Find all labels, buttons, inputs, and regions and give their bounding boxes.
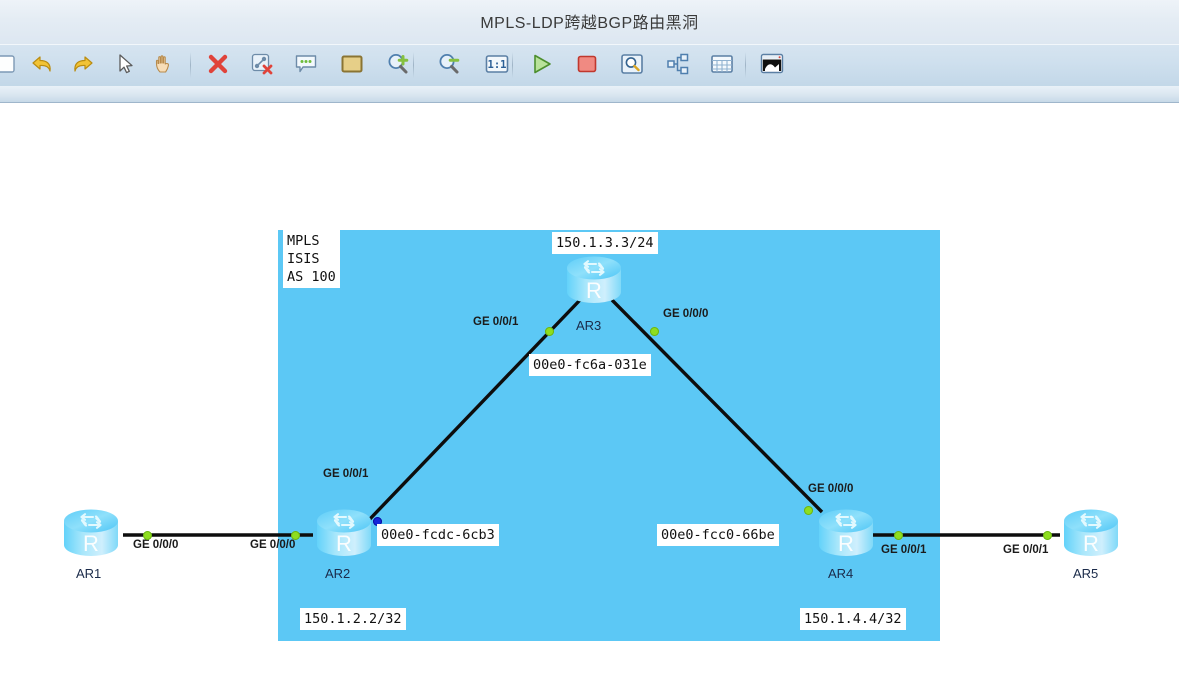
- port-label: GE 0/0/0: [663, 308, 708, 320]
- port-connector-dot[interactable]: [1043, 531, 1052, 540]
- router-ar2[interactable]: R: [313, 505, 375, 561]
- ar4-loopback-label[interactable]: 150.1.4.4/32: [800, 608, 906, 630]
- window-title: MPLS-LDP跨越BGP路由黑洞: [0, 9, 1179, 33]
- zoom-in-icon[interactable]: [386, 52, 412, 78]
- ar2-mac-label[interactable]: 00e0-fcdc-6cb3: [377, 524, 499, 546]
- pan-hand-icon[interactable]: [152, 52, 178, 78]
- toolbar-separator-4: [745, 52, 746, 78]
- svg-text:R: R: [336, 531, 352, 556]
- stop-all-icon[interactable]: [575, 52, 601, 78]
- start-all-icon[interactable]: [530, 52, 556, 78]
- router-ar1[interactable]: R: [60, 505, 122, 561]
- svg-text:1:1: 1:1: [488, 59, 507, 71]
- rectangle-icon[interactable]: [340, 52, 366, 78]
- svg-text:R: R: [1083, 531, 1099, 556]
- port-connector-dot[interactable]: [650, 327, 659, 336]
- toolbar-separator-1: [190, 52, 191, 78]
- grid-icon[interactable]: [710, 52, 736, 78]
- ar4-mac-label[interactable]: 00e0-fcc0-66be: [657, 524, 779, 546]
- port-connector-dot[interactable]: [545, 327, 554, 336]
- router-name-label: AR2: [325, 566, 350, 581]
- select-cursor-icon[interactable]: [114, 52, 140, 78]
- ar3-mac-label[interactable]: 00e0-fc6a-031e: [529, 354, 651, 376]
- topology-tree-icon[interactable]: [666, 52, 692, 78]
- delete-icon[interactable]: [206, 52, 232, 78]
- zoom-out-icon[interactable]: [437, 52, 463, 78]
- router-ar5[interactable]: R: [1060, 505, 1122, 561]
- delete-link-icon[interactable]: [250, 52, 276, 78]
- port-connector-dot[interactable]: [143, 531, 152, 540]
- router-ar4[interactable]: R: [815, 505, 877, 561]
- port-label: GE 0/0/1: [1003, 544, 1048, 556]
- svg-text:R: R: [586, 278, 602, 303]
- redo-icon[interactable]: [71, 52, 97, 78]
- screenshot-icon[interactable]: [760, 52, 786, 78]
- ar2-loopback-label[interactable]: 150.1.2.2/32: [300, 608, 406, 630]
- toolbar-separator-3: [512, 52, 513, 78]
- port-connector-dot[interactable]: [894, 531, 903, 540]
- svg-text:R: R: [83, 531, 99, 556]
- router-name-label: AR3: [576, 318, 601, 333]
- port-label: GE 0/0/1: [323, 468, 368, 480]
- zoom-reset-icon[interactable]: 1:1: [485, 52, 511, 78]
- port-label: GE 0/0/1: [473, 316, 518, 328]
- router-ar3[interactable]: R: [563, 252, 625, 308]
- router-name-label: AR5: [1073, 566, 1098, 581]
- port-label: GE 0/0/1: [881, 544, 926, 556]
- toolbar-lower-strip: [0, 86, 1179, 103]
- router-name-label: AR4: [828, 566, 853, 581]
- comment-icon[interactable]: [294, 52, 320, 78]
- open-icon[interactable]: [0, 52, 20, 78]
- router-name-label: AR1: [76, 566, 101, 581]
- ar3-address-label[interactable]: 150.1.3.3/24: [552, 232, 658, 254]
- svg-text:R: R: [838, 531, 854, 556]
- port-connector-dot[interactable]: [291, 531, 300, 540]
- port-connector-dot[interactable]: [804, 506, 813, 515]
- window-title-bar: MPLS-LDP跨越BGP路由黑洞: [0, 0, 1179, 45]
- undo-icon[interactable]: [30, 52, 56, 78]
- toolbar-separator-2: [413, 52, 414, 78]
- port-label: GE 0/0/0: [808, 483, 853, 495]
- topology-canvas[interactable]: RRRRRAR1AR2AR3AR4AR5GE 0/0/0GE 0/0/0GE 0…: [0, 103, 1179, 697]
- port-label: GE 0/0/0: [133, 539, 178, 551]
- port-label: GE 0/0/0: [250, 539, 295, 551]
- region-annotation[interactable]: MPLS ISIS AS 100: [283, 230, 340, 288]
- capture-packet-icon[interactable]: [620, 52, 646, 78]
